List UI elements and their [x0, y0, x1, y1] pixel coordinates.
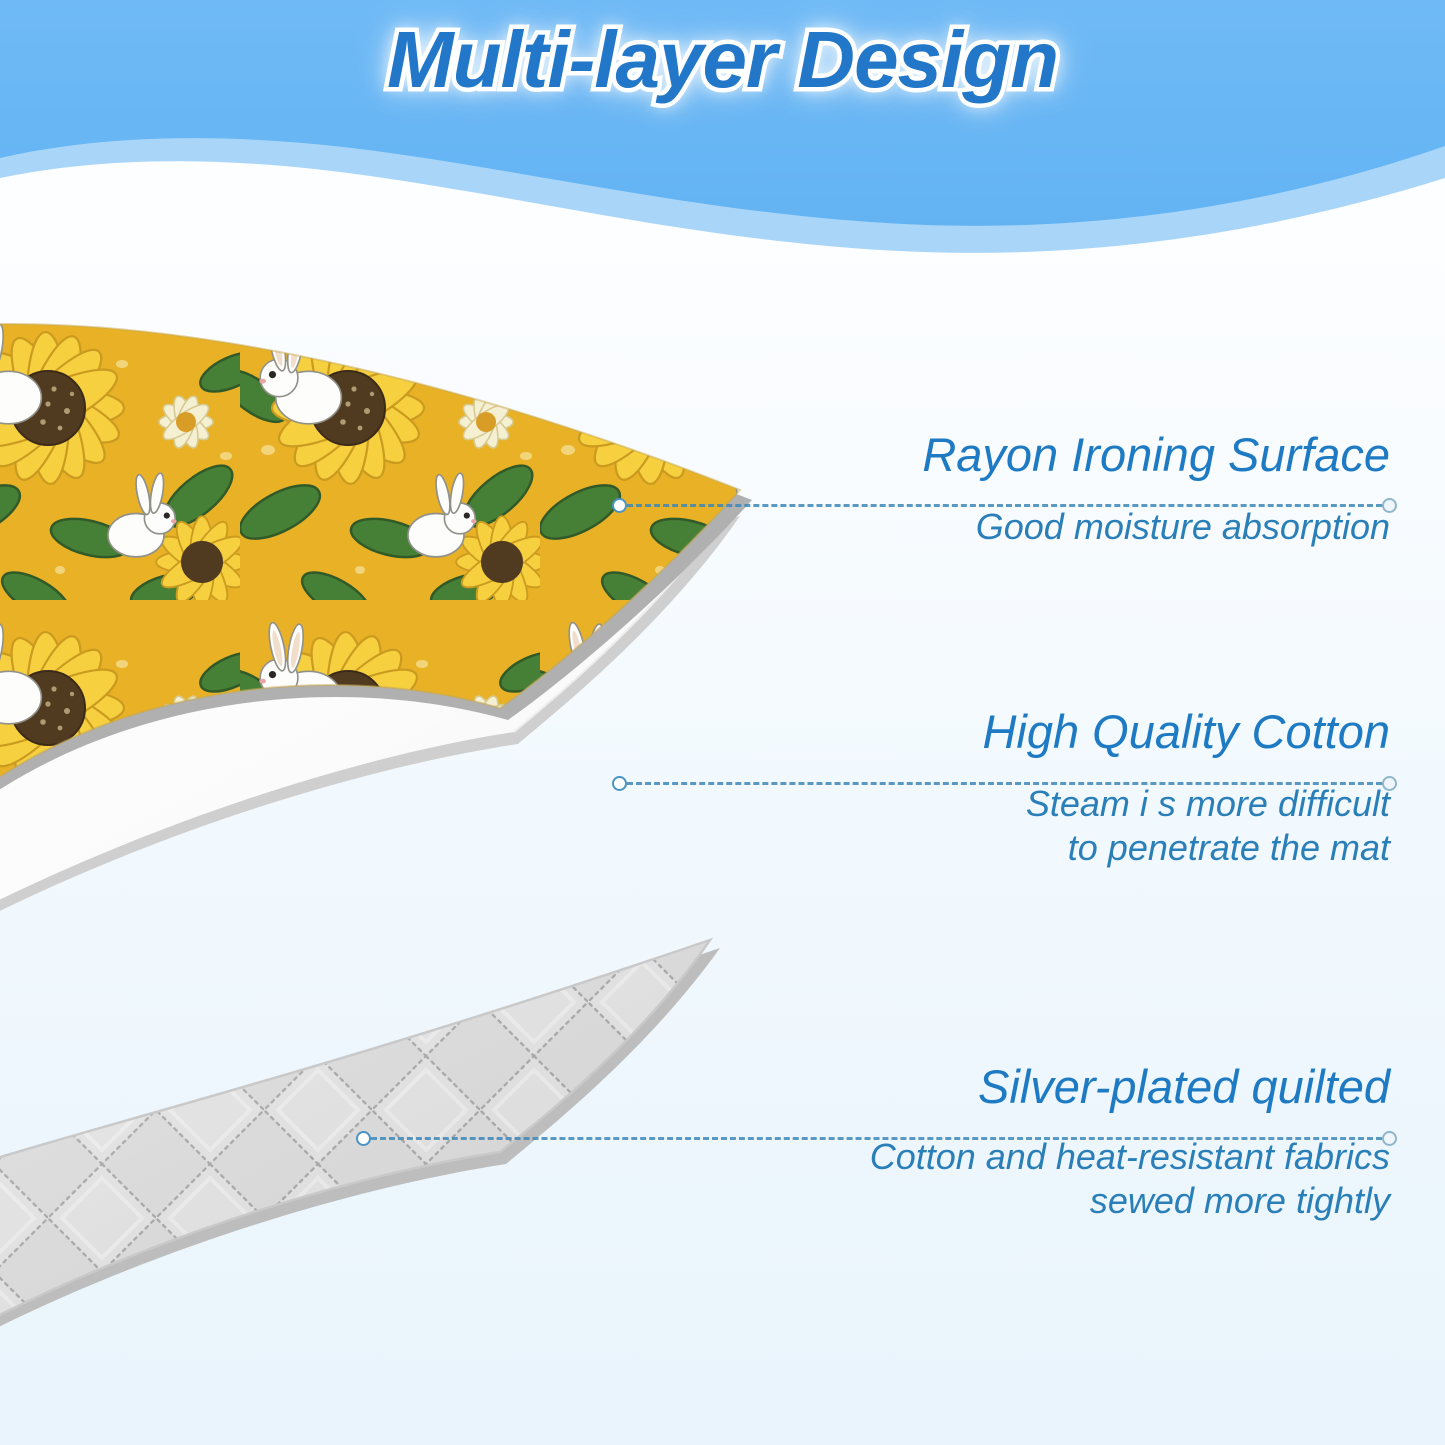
page-title: Multi-layer Design	[0, 14, 1445, 106]
connector-line-rayon	[612, 504, 1397, 507]
connector-dot-left	[356, 1131, 371, 1146]
feature-heading: Rayon Ironing Surface	[750, 430, 1390, 479]
feature-block-high-quality-cotton: High Quality Cotton Steam i s more diffi…	[750, 707, 1390, 870]
feature-heading: High Quality Cotton	[750, 707, 1390, 756]
connector-line-cotton	[612, 782, 1397, 785]
connector-dash	[371, 1137, 1382, 1140]
feature-heading: Silver-plated quilted	[750, 1062, 1390, 1111]
connector-dot-left	[612, 776, 627, 791]
connector-dash	[627, 782, 1382, 785]
layer-stack-illustration	[0, 300, 780, 1360]
connector-line-quilted	[356, 1137, 1397, 1140]
feature-subtitle: Good moisture absorption	[750, 505, 1390, 549]
connector-dot-right	[1382, 498, 1397, 513]
infographic-canvas: Multi-layer Design	[0, 0, 1445, 1445]
connector-dash	[627, 504, 1382, 507]
silver-quilted-bottom-layer	[0, 900, 780, 1360]
feature-block-silver-plated-quilted: Silver-plated quilted Cotton and heat-re…	[750, 1062, 1390, 1223]
connector-dot-right	[1382, 1131, 1397, 1146]
connector-dot-left	[612, 498, 627, 513]
feature-block-rayon-ironing-surface: Rayon Ironing Surface Good moisture abso…	[750, 430, 1390, 549]
connector-dot-right	[1382, 776, 1397, 791]
feature-subtitle: Steam i s more difficult to penetrate th…	[750, 782, 1390, 870]
feature-subtitle: Cotton and heat-resistant fabrics sewed …	[750, 1135, 1390, 1223]
